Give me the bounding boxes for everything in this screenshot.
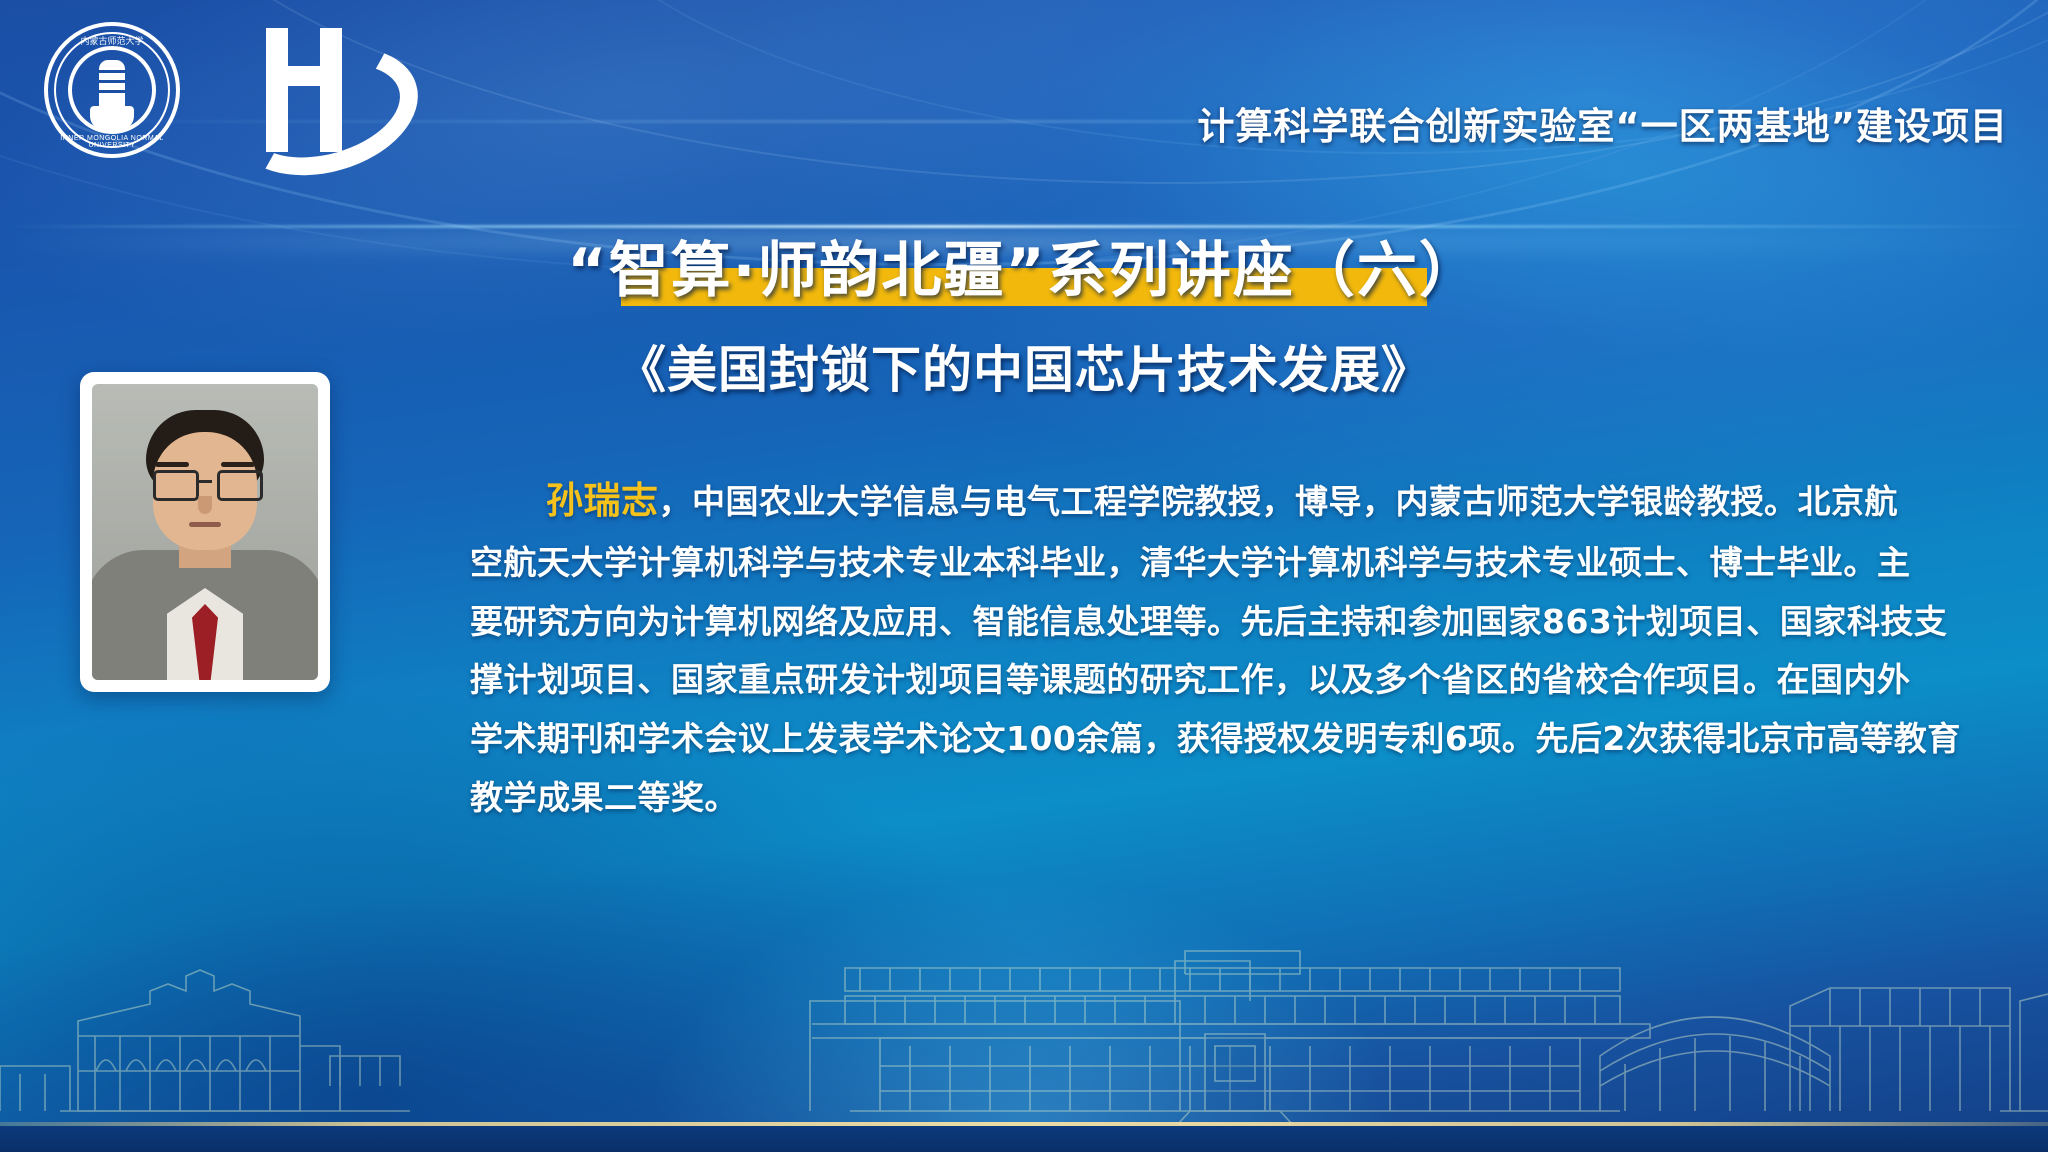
bio-line-text: 教学成果二等奖。 [470,778,738,817]
bio-line-text: ，中国农业大学信息与电气工程学院教授，博导，内蒙古师范大学银龄教授。北京航 [659,482,1899,521]
bio-line-text: 要研究方向为计算机网络及应用、智能信息处理等。先后主持和参加国家863计划项目、… [470,602,1947,641]
project-title: 计算科学联合创新实验室“一区两基地”建设项目 [1197,96,2008,150]
main-title-block: “智算·师韵北疆”系列讲座（六） [0,222,2048,309]
bio-line: 学术期刊和学术会议上发表学术论文100余篇，获得授权发明专利6项。先后2次获得北… [470,710,1990,769]
logo-row: 内蒙古师范大学 INNER MONGOLIA NORMAL UNIVERSITY [44,22,382,158]
campus-skyline-icon [0,896,2048,1126]
lecture-series-title: “智算·师韵北疆”系列讲座（六） [567,236,1481,306]
institute-logo-icon [232,22,382,158]
bottom-strip [0,1126,2048,1152]
bio-line-text: 学术期刊和学术会议上发表学术论文100余篇，获得授权发明专利6项。先后2次获得北… [470,719,1961,758]
speaker-portrait [80,372,330,692]
bio-line-text: 空航天大学计算机科学与技术专业本科毕业，清华大学计算机科学与技术专业硕士、博士毕… [470,543,1911,582]
bio-line: 教学成果二等奖。 [470,769,1990,828]
speaker-bio: 孙瑞志，中国农业大学信息与电气工程学院教授，博导，内蒙古师范大学银龄教授。北京航… [470,468,1990,828]
university-seal-icon: 内蒙古师范大学 INNER MONGOLIA NORMAL UNIVERSITY [44,22,180,158]
speaker-name: 孙瑞志 [546,479,659,522]
bio-line: 撑计划项目、国家重点研发计划项目等课题的研究工作，以及多个省区的省校合作项目。在… [470,651,1990,710]
seal-name-en: INNER MONGOLIA NORMAL UNIVERSITY [44,135,180,149]
seal-name-cn: 内蒙古师范大学 [44,34,180,47]
bio-line-text: 撑计划项目、国家重点研发计划项目等课题的研究工作，以及多个省区的省校合作项目。在… [470,660,1911,699]
bio-line: 孙瑞志，中国农业大学信息与电气工程学院教授，博导，内蒙古师范大学银龄教授。北京航 [470,468,1990,534]
lecture-poster: 内蒙古师范大学 INNER MONGOLIA NORMAL UNIVERSITY… [0,0,2048,1152]
bio-line: 要研究方向为计算机网络及应用、智能信息处理等。先后主持和参加国家863计划项目、… [470,593,1990,652]
bio-line: 空航天大学计算机科学与技术专业本科毕业，清华大学计算机科学与技术专业硕士、博士毕… [470,534,1990,593]
